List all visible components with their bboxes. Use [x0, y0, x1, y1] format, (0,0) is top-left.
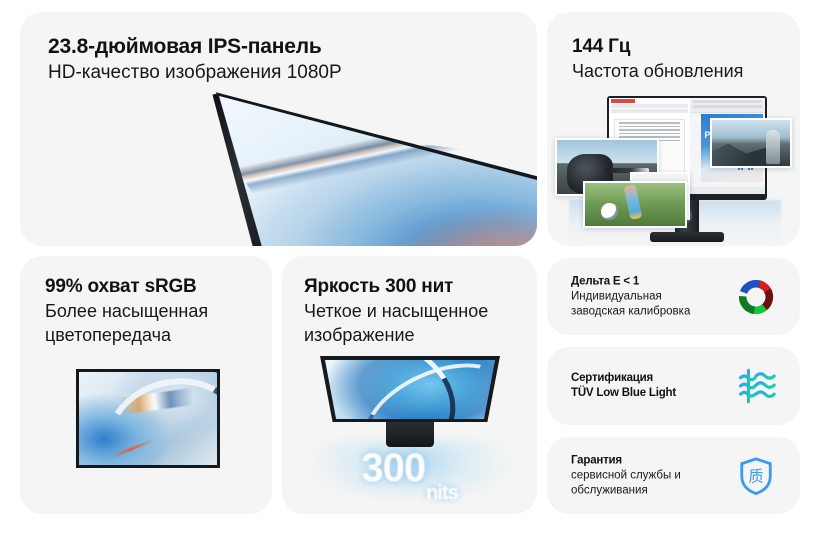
card-warranty-subtitle-line1: сервисной службы и	[571, 468, 681, 483]
card-warranty: Гарантия сервисной службы и обслуживания…	[547, 437, 800, 514]
srgb-red-accent	[111, 438, 156, 458]
ppt-ribbon	[690, 100, 765, 113]
color-ring-icon-slot	[734, 275, 778, 319]
low-blue-light-icon	[736, 366, 776, 406]
doc-line	[619, 129, 680, 131]
card-delta-e-subtitle-line2: заводская калибровка	[571, 304, 690, 319]
monitor-base	[650, 232, 724, 242]
brightness-glow-unit: nits	[426, 482, 458, 505]
card-warranty-subtitle-line2: обслуживания	[571, 483, 681, 498]
promo-spec-grid: 23.8-дюймовая IPS-панель HD-качество изо…	[0, 0, 820, 534]
card-ips-title: 23.8-дюймовая IPS-панель	[48, 34, 342, 60]
card-refresh-title: 144 Гц	[572, 34, 743, 59]
card-ips-text: 23.8-дюймовая IPS-панель HD-качество изо…	[48, 34, 342, 85]
card-brightness-subtitle-line2: изображение	[304, 323, 488, 347]
card-ips-panel: 23.8-дюймовая IPS-панель HD-качество изо…	[20, 12, 537, 246]
ppt-ribbon-row	[693, 105, 762, 108]
card-brightness-subtitle-line1: Четкое и насыщенное	[304, 299, 488, 323]
refresh-monitor-artwork: Project Review	[555, 94, 792, 246]
brightness-monitor-screen	[325, 360, 495, 419]
floating-window-landscape-photo	[710, 118, 792, 168]
brightness-monitor-frame	[320, 356, 500, 422]
card-brightness-title: Яркость 300 нит	[304, 274, 488, 299]
card-brightness: Яркость 300 нит Четкое и насыщенное изоб…	[282, 256, 537, 514]
card-tuv-text: Сертификация TÜV Low Blue Light	[571, 371, 676, 401]
doc-toolbar-2	[611, 109, 688, 113]
card-srgb-title: 99% охват sRGB	[45, 274, 208, 299]
card-brightness-text: Яркость 300 нит Четкое и насыщенное изоб…	[304, 274, 488, 347]
brightness-monitor-stand	[386, 422, 434, 447]
card-refresh-text: 144 Гц Частота обновления	[572, 34, 743, 83]
srgb-specular-highlight	[120, 387, 207, 415]
doc-line	[619, 122, 680, 124]
brightness-monitor-artwork: 300nits	[302, 356, 517, 496]
ppt-ribbon-row	[693, 100, 762, 103]
doc-toolbar-1	[611, 104, 688, 108]
doc-titlebar	[611, 99, 635, 103]
ppt-statusbar	[690, 187, 765, 194]
floating-window-sports-screenshot	[583, 181, 687, 228]
card-srgb-subtitle-line1: Более насыщенная	[45, 299, 208, 323]
shield-quality-icon: 质	[737, 456, 775, 496]
card-srgb-coverage: 99% охват sRGB Более насыщенная цветопер…	[20, 256, 272, 514]
card-ips-subtitle: HD-качество изображения 1080P	[48, 60, 342, 85]
srgb-abstract-gradient	[79, 372, 217, 465]
card-delta-e-text: Дельта E < 1 Индивидуальная заводская ка…	[571, 274, 690, 319]
doc-line	[619, 126, 680, 128]
card-warranty-title: Гарантия	[571, 453, 681, 468]
card-delta-e-subtitle-line1: Индивидуальная	[571, 289, 690, 304]
srgb-framed-image	[76, 369, 220, 468]
shield-glyph: 质	[748, 467, 763, 485]
low-blue-light-icon-slot	[734, 364, 778, 408]
card-tuv-title: Сертификация	[571, 371, 676, 386]
card-srgb-text: 99% охват sRGB Более насыщенная цветопер…	[45, 274, 208, 347]
brightness-glow-number: 300	[361, 446, 425, 491]
card-refresh-rate: 144 Гц Частота обновления	[547, 12, 800, 246]
card-refresh-subtitle: Частота обновления	[572, 59, 743, 83]
ips-monitor-artwork	[205, 90, 537, 246]
card-tuv-subtitle: TÜV Low Blue Light	[571, 386, 676, 401]
card-tuv-certification: Сертификация TÜV Low Blue Light	[547, 347, 800, 425]
card-srgb-subtitle-line2: цветопередача	[45, 323, 208, 347]
shield-quality-icon-slot: 质	[734, 454, 778, 498]
card-delta-e: Дельта E < 1 Индивидуальная заводская ка…	[547, 258, 800, 335]
color-ring-icon	[737, 278, 775, 316]
card-delta-e-title: Дельта E < 1	[571, 274, 690, 289]
brightness-glow-label: 300nits	[302, 442, 517, 494]
doc-line	[619, 133, 680, 135]
card-warranty-text: Гарантия сервисной службы и обслуживания	[571, 453, 681, 498]
